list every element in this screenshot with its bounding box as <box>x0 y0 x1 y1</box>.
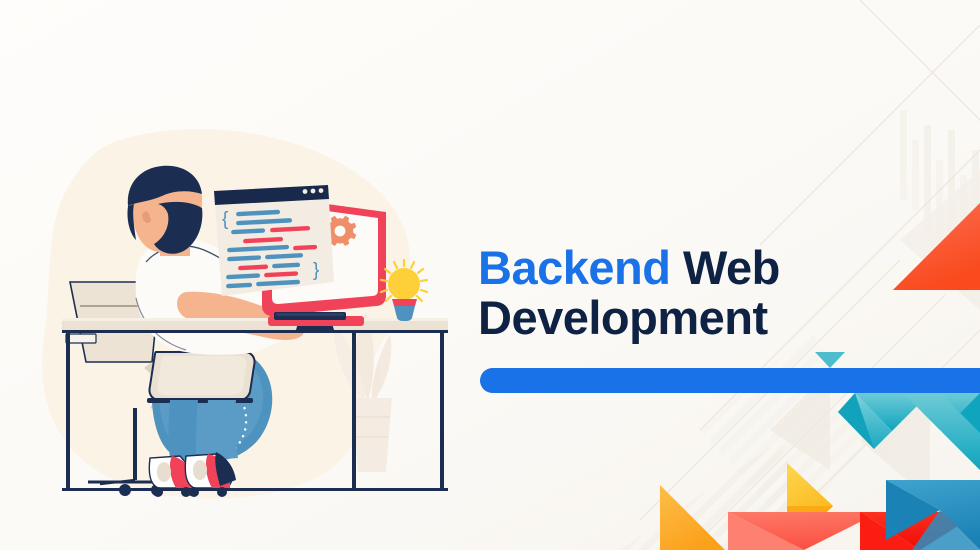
svg-text:}: } <box>313 260 319 281</box>
banner-root: { } <box>0 0 980 550</box>
title-accent-word: Backend <box>478 241 670 294</box>
blue-underline-bar <box>480 368 980 393</box>
page-title: Backend Web Development <box>478 243 948 343</box>
code-window: { } <box>214 185 334 296</box>
title-line-two: Development <box>478 293 948 343</box>
svg-text:{: { <box>222 209 229 230</box>
title-rest-word: Web <box>670 241 779 294</box>
